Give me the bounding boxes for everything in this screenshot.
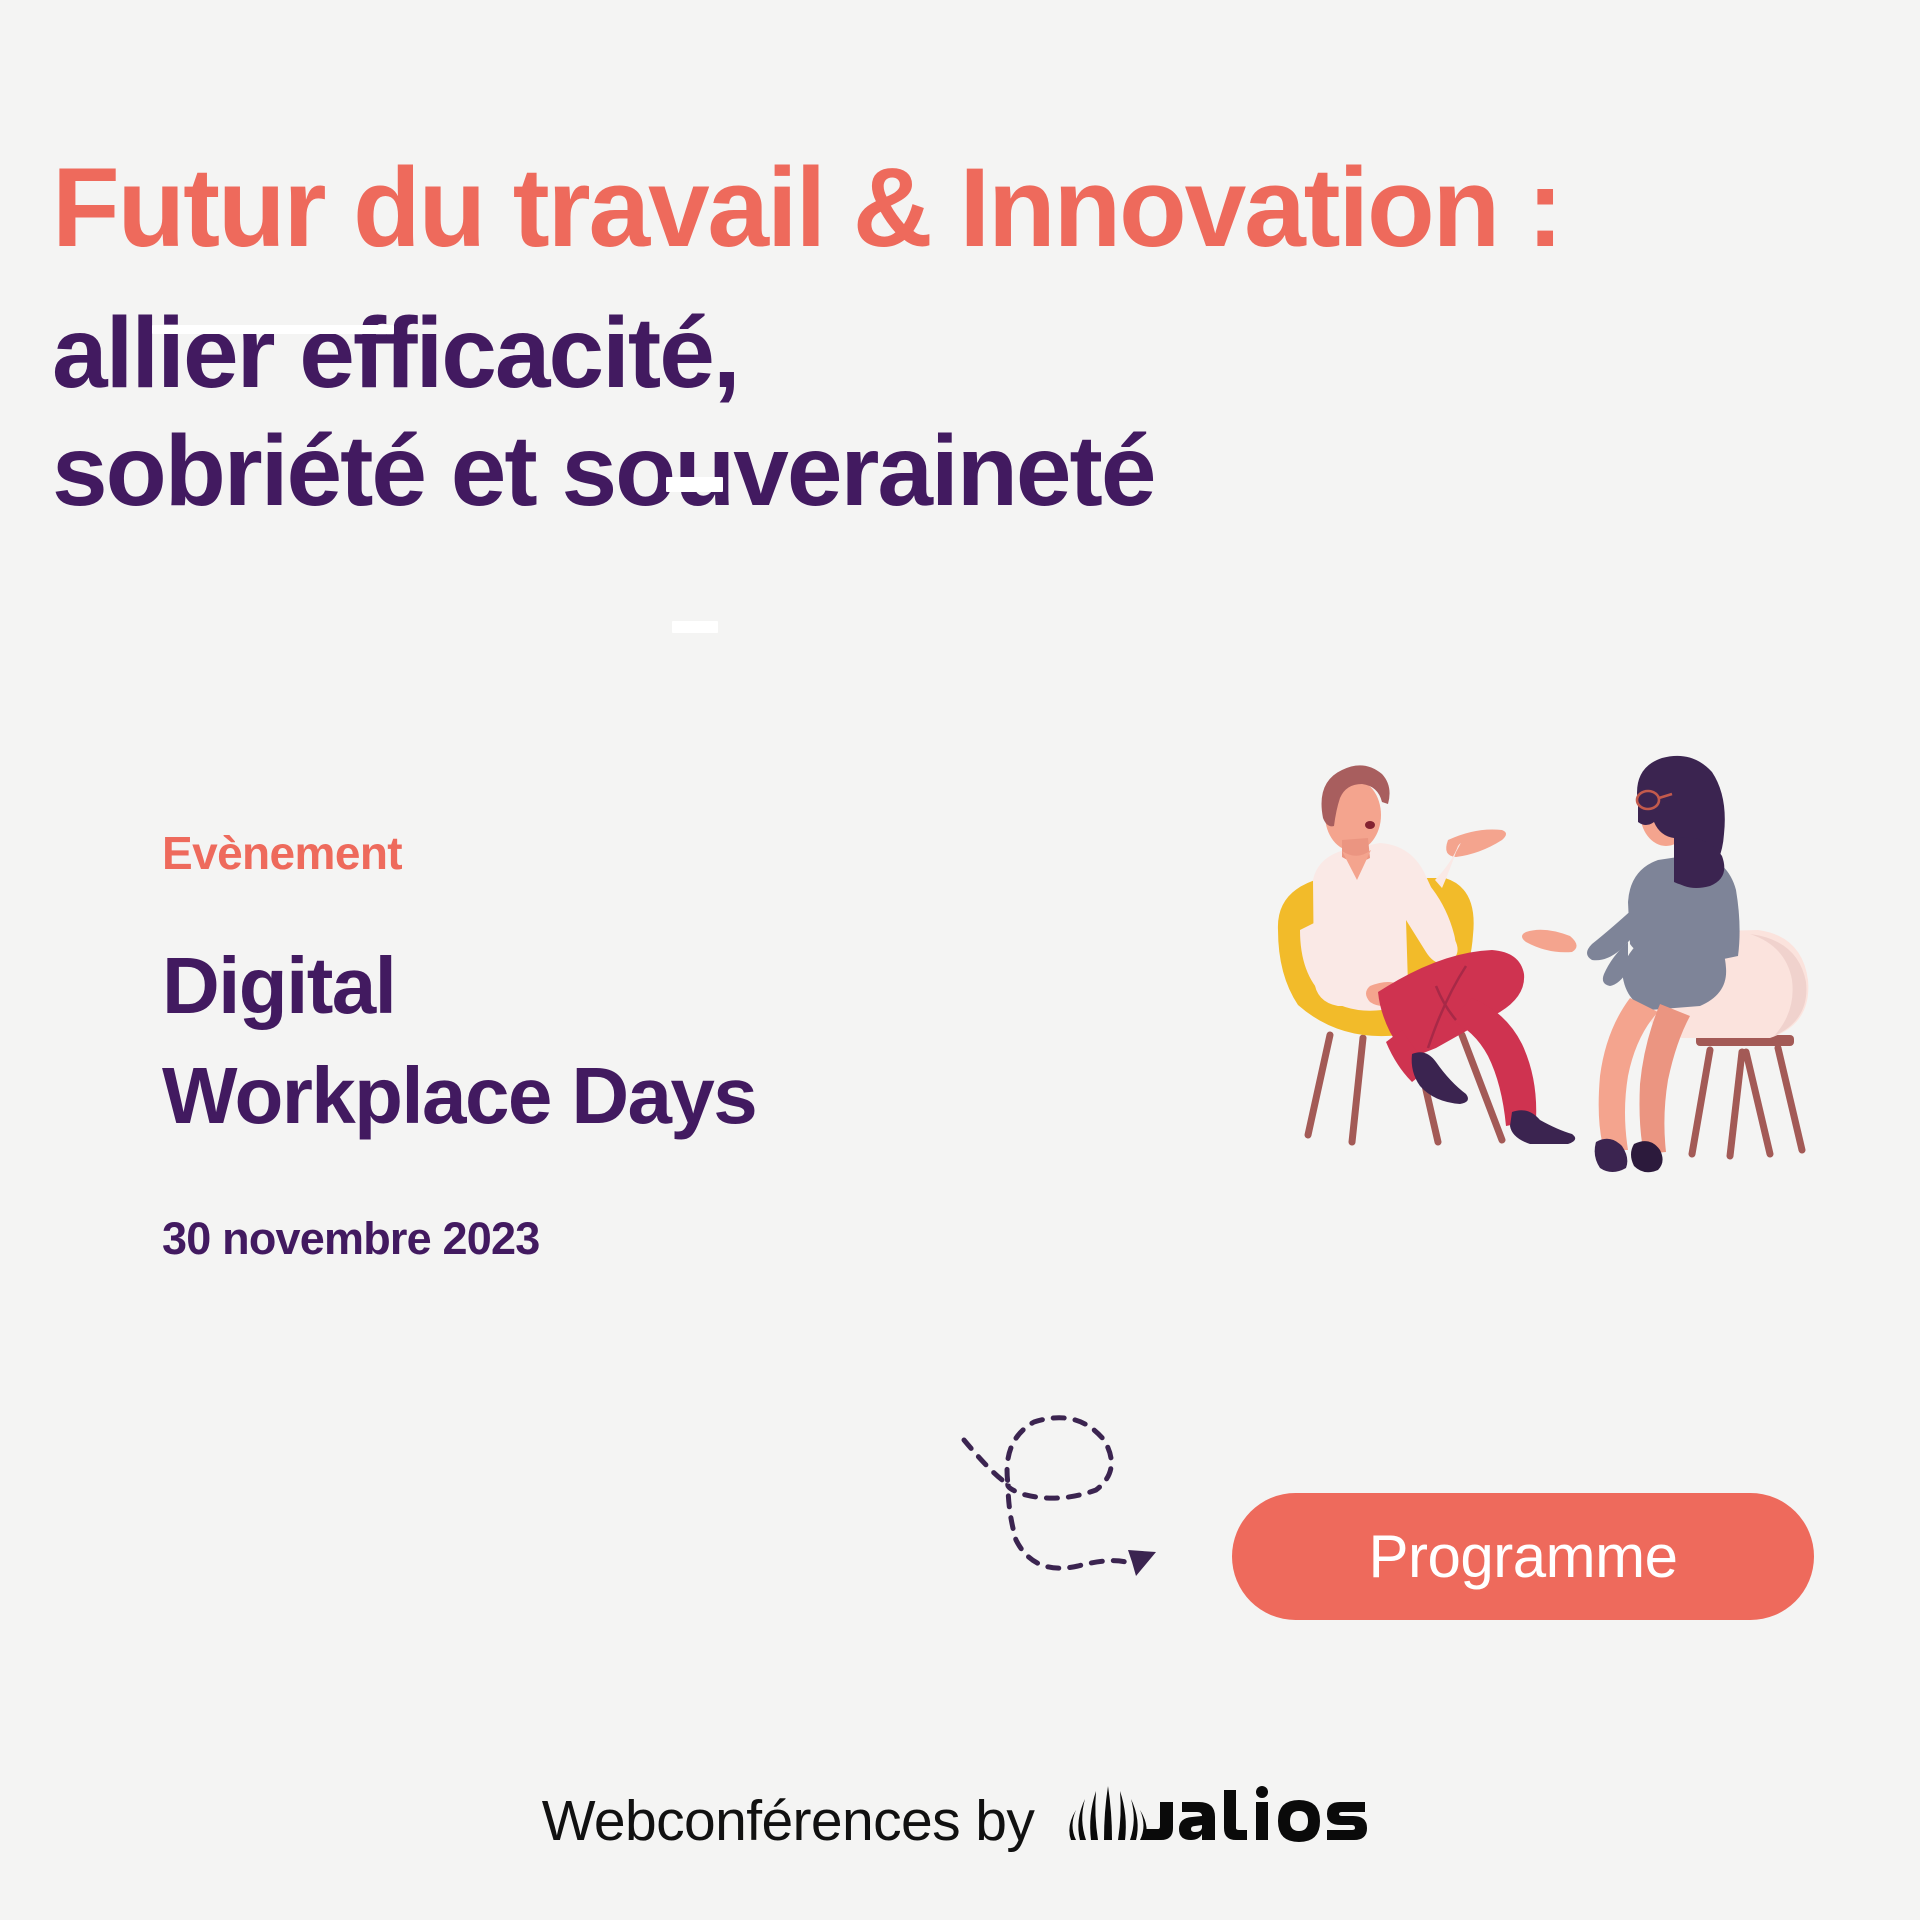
event-title-line-2: Workplace Days	[162, 1041, 1062, 1151]
event-kicker-label: Evènement	[162, 828, 1062, 879]
decorative-tick-3	[672, 621, 718, 633]
jalios-fan-logo-icon	[1070, 1786, 1147, 1840]
poster-canvas: Futur du travail & Innovation : allier e…	[0, 0, 1920, 1920]
event-title-line-1: Digital	[162, 931, 1062, 1041]
footer-label: Webconférences by	[542, 1793, 1035, 1850]
two-people-conversation-illustration	[1230, 730, 1910, 1210]
headline-line-3: sobriété et souveraineté	[52, 412, 1882, 530]
curved-dashed-arrow-icon	[950, 1400, 1200, 1620]
event-date: 30 novembre 2023	[162, 1213, 1062, 1265]
headline-line-2: allier efficacité,	[52, 294, 1882, 412]
decorative-tick-2	[666, 477, 723, 492]
footer-bar: Webconférences by	[0, 1782, 1920, 1860]
programme-button[interactable]: Programme	[1232, 1493, 1814, 1620]
jalios-logo	[1068, 1782, 1378, 1860]
headline-block: Futur du travail & Innovation : allier e…	[52, 150, 1882, 530]
event-info-block: Evènement Digital Workplace Days 30 nove…	[162, 828, 1062, 1265]
headline-line-1: Futur du travail & Innovation :	[52, 150, 1864, 266]
decorative-tick-1	[152, 325, 394, 334]
